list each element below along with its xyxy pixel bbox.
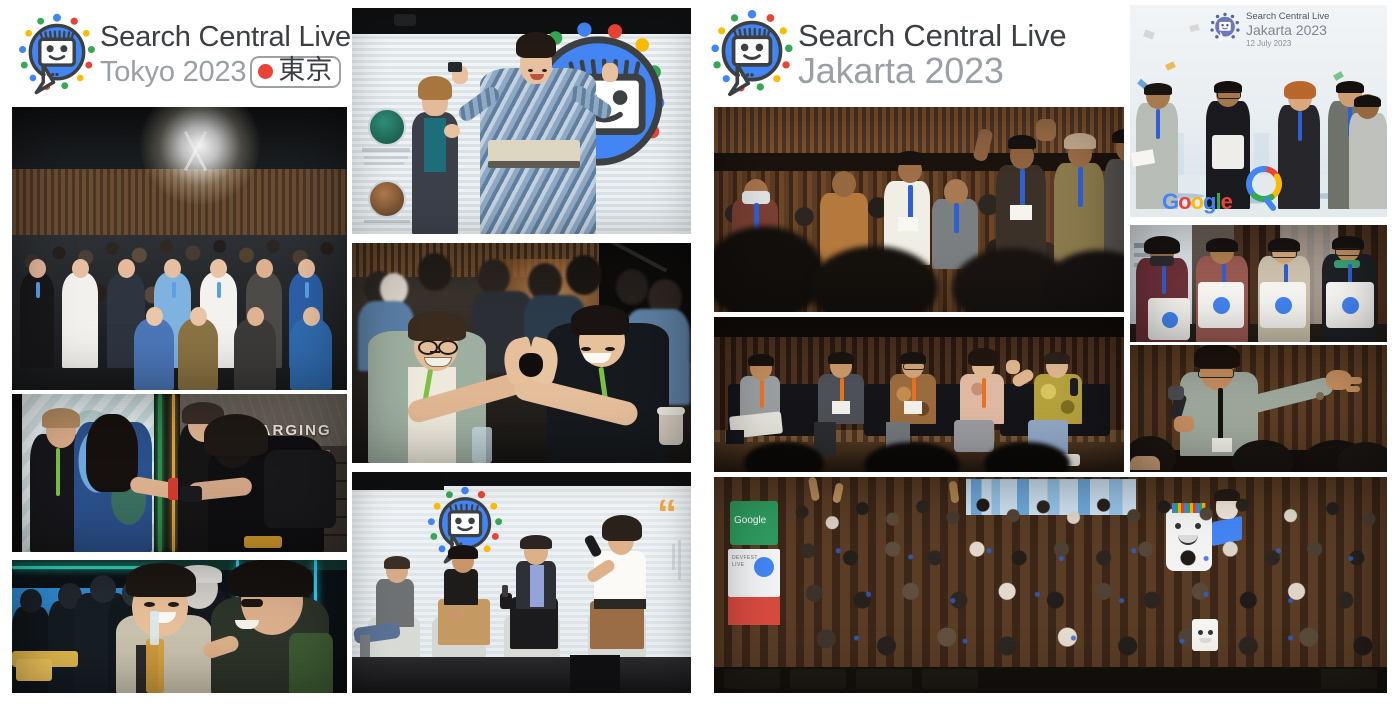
photo-tokyo-audience-group [12, 107, 347, 390]
google-signage-label: Google [734, 515, 766, 526]
google-wordmark-prop: Google [1162, 189, 1232, 215]
crowd-figures [12, 107, 347, 390]
photo-tokyo-panel-stage: “ [352, 472, 691, 693]
quote-mark-decoration: “ [657, 494, 677, 534]
search-central-mascot-icon [706, 6, 798, 103]
side-panel-label: DEVFEST LIVE [732, 555, 752, 568]
banner-line2: Jakarta 2023 [1246, 23, 1329, 38]
photo-jakarta-audience-question [1130, 345, 1387, 472]
photo-tokyo-heart-hands [352, 243, 691, 463]
jakarta-title-line2: Jakarta 2023 [798, 53, 1066, 89]
jakarta-photo-wall-banner: Search Central Live Jakarta 2023 12 July… [1208, 11, 1329, 50]
tokyo-japan-badge: 東京 [250, 56, 341, 88]
search-central-mascot-icon [14, 10, 100, 101]
tokyo-lockup-text: Search Central Live Tokyo 2023 東京 [100, 23, 351, 88]
tokyo-title-line2: Tokyo 2023 [100, 58, 246, 87]
collage-canvas: Search Central Live Tokyo 2023 東京 [0, 0, 1400, 704]
search-central-mascot-icon [1208, 11, 1242, 50]
photo-tokyo-after-party [12, 560, 347, 693]
photo-tokyo-yukata-stage [352, 8, 691, 234]
search-magnifier-prop [1242, 166, 1286, 217]
tokyo-badge-label: 東京 [278, 57, 332, 84]
tokyo-event-lockup: Search Central Live Tokyo 2023 東京 [14, 10, 351, 101]
photo-jakarta-audience-cheering [714, 107, 1124, 312]
banner-line3: 12 July 2023 [1246, 40, 1329, 48]
photo-tokyo-charging-station: CHARGING STATION [12, 394, 347, 552]
photo-jakarta-group-photo: Google DEVFEST LIVE [714, 477, 1387, 693]
tokyo-subtitle-row: Tokyo 2023 東京 [100, 56, 351, 88]
photo-jakarta-photo-wall: Search Central Live Jakarta 2023 12 July… [1130, 5, 1387, 217]
photo-jakarta-swag-bags [1130, 225, 1387, 342]
photo-jakarta-panel-sofa [714, 317, 1124, 472]
jakarta-title-line1: Search Central Live [798, 20, 1066, 51]
jakarta-event-lockup: Search Central Live Jakarta 2023 [706, 6, 1066, 103]
banner-line1: Search Central Live [1246, 12, 1329, 22]
japan-flag-dot-icon [258, 64, 273, 79]
tokyo-title-line1: Search Central Live [100, 23, 351, 52]
jakarta-lockup-text: Search Central Live Jakarta 2023 [798, 20, 1066, 89]
